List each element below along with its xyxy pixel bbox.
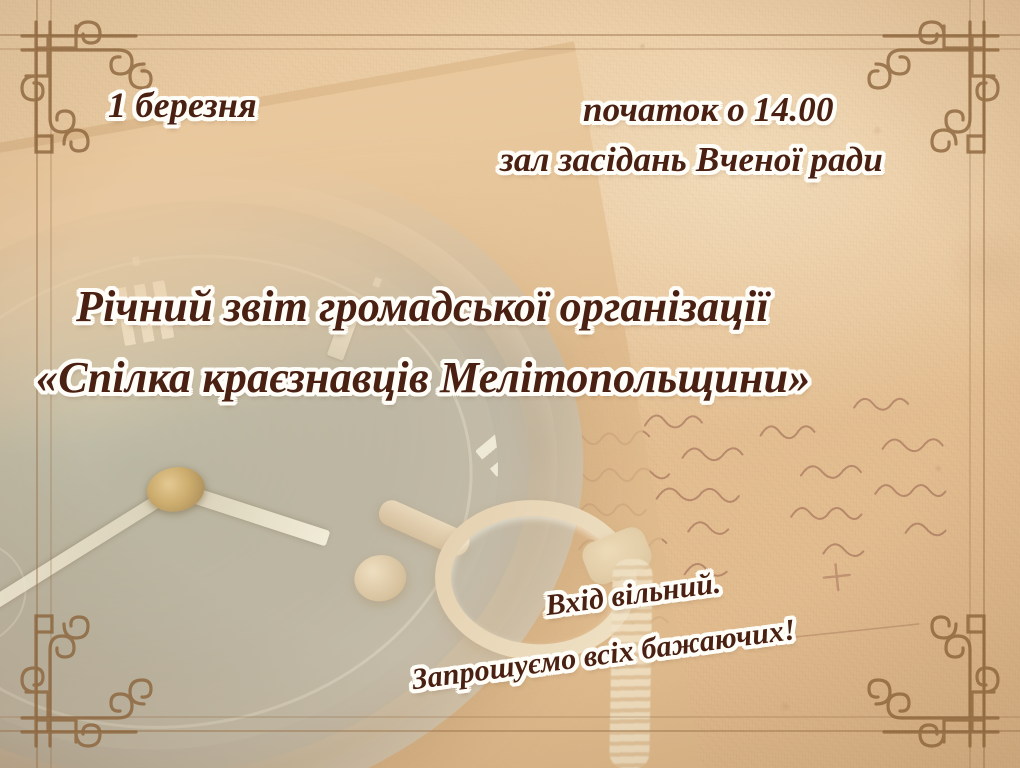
- corner-ornament-bottom-left: [18, 580, 188, 750]
- poster-title-line-1: Річний звіт громадської організації: [76, 281, 769, 332]
- invitation-note: Запрошуємо всіх бажаючих!: [410, 613, 798, 697]
- event-venue: зал засідань Вченої ради: [500, 140, 883, 180]
- event-date: 1 березня: [108, 84, 257, 126]
- poster-title-line-2: «Спілка краєзнавців Мелітопольщини»: [36, 352, 810, 403]
- poster-canvas: 1 березня початок о 14.00 зал засідань В…: [0, 0, 1020, 768]
- event-start-time: початок о 14.00: [583, 90, 834, 130]
- free-entry-note: Вхід вільний.: [544, 566, 723, 623]
